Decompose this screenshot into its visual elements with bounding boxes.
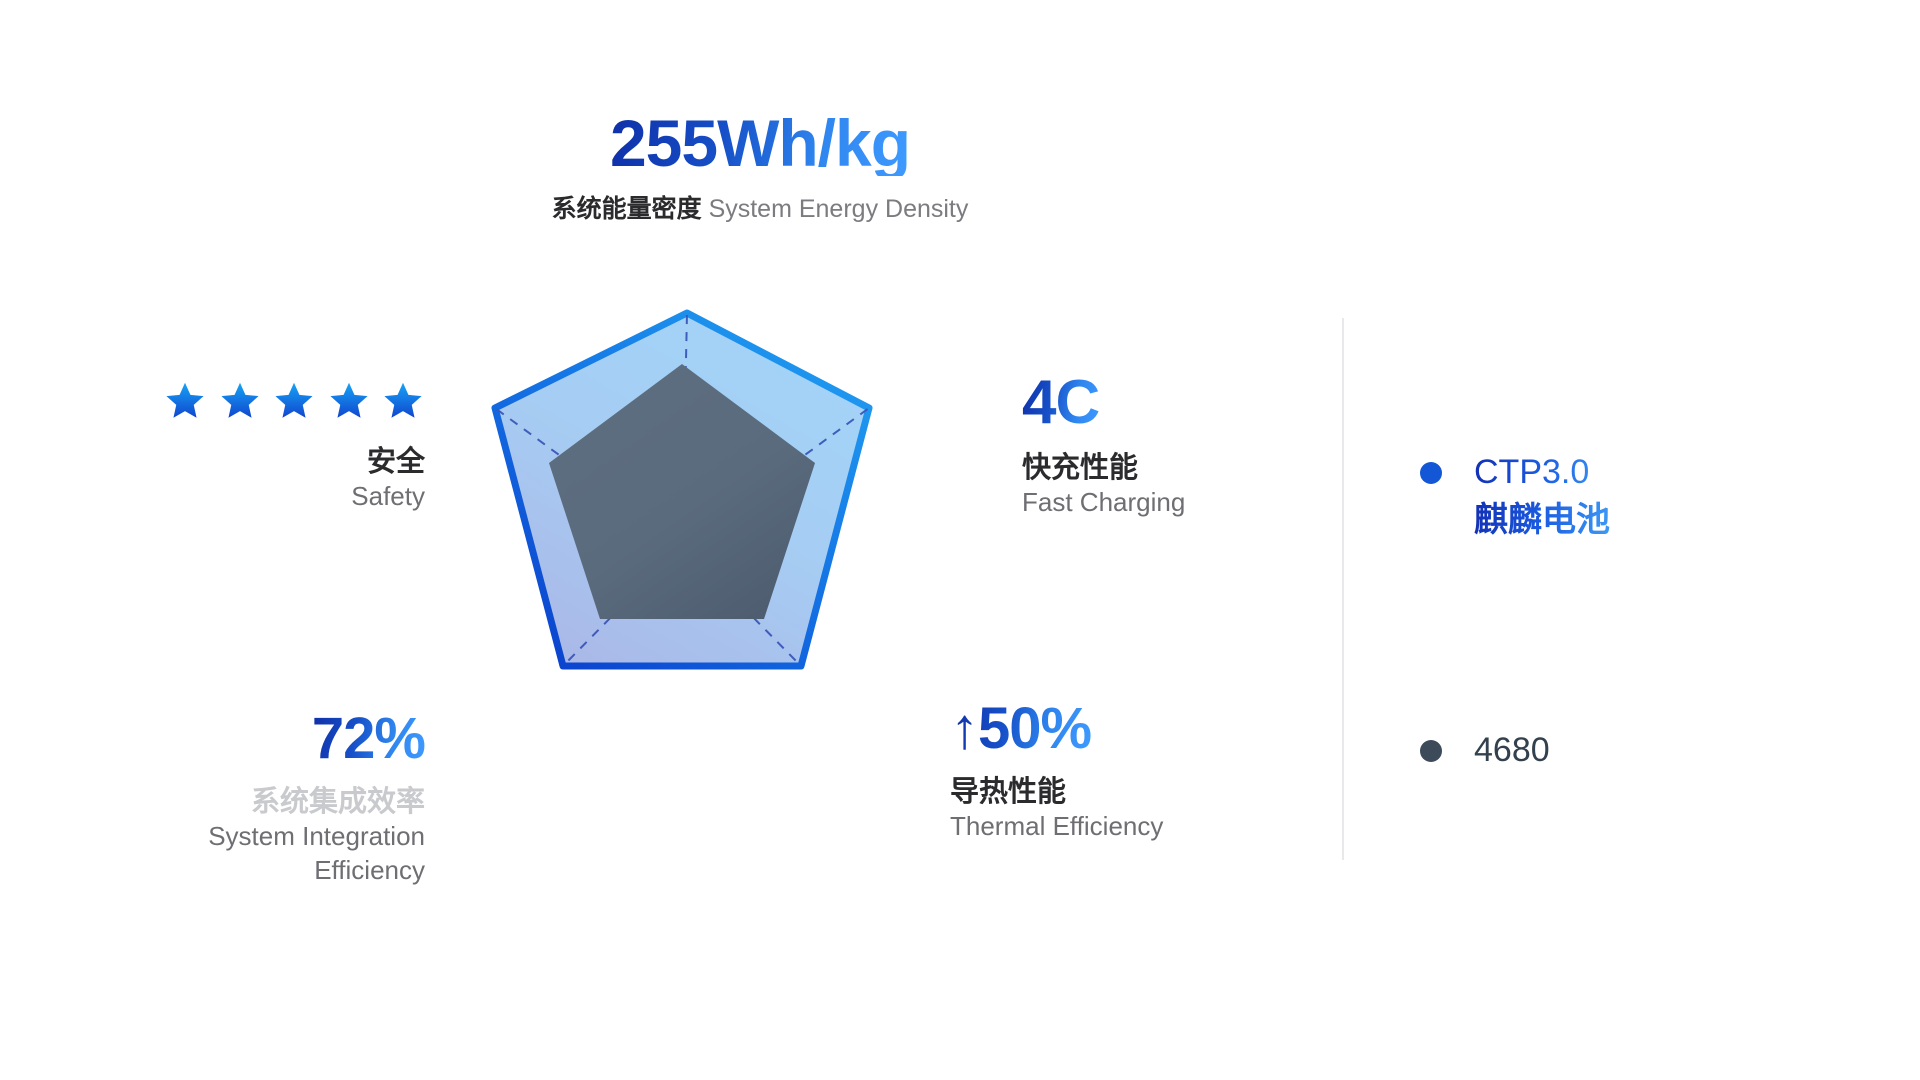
legend-dot-4680-icon [1420, 740, 1442, 762]
fast-charging-value: 4C [1022, 372, 1099, 434]
integration-value: 72% [312, 710, 425, 768]
thermal-label-cn: 导热性能 [950, 774, 1310, 810]
energy-density-value: 255Wh/kg [610, 110, 910, 176]
fast-charging-label-cn: 快充性能 [1022, 450, 1322, 486]
legend-label-4680: 4680 [1474, 728, 1550, 772]
thermal-value: ↑50% [950, 700, 1091, 758]
safety-label-en: Safety [60, 480, 425, 514]
safety-label-cn: 安全 [60, 444, 425, 480]
legend-label-ctp3: CTP3.0 麒麟电池 [1474, 450, 1610, 542]
metric-system-integration-efficiency: 72% 系统集成效率 System Integration Efficiency [40, 710, 425, 888]
star-icon [163, 380, 207, 422]
legend-ctp3-line1: CTP3.0 [1474, 450, 1610, 494]
thermal-label-en: Thermal Efficiency [950, 810, 1310, 844]
metric-fast-charging: 4C 快充性能 Fast Charging [1022, 372, 1322, 520]
legend-ctp3-line2: 麒麟电池 [1474, 498, 1610, 542]
energy-density-label: 系统能量密度 System Energy Density [400, 194, 1120, 224]
integration-label-en-line1: System Integration [40, 820, 425, 854]
chart-legend: CTP3.0 麒麟电池 4680 [1420, 450, 1610, 773]
star-icon [381, 380, 425, 422]
safety-star-rating [60, 380, 425, 422]
star-icon [272, 380, 316, 422]
fast-charging-label-en: Fast Charging [1022, 486, 1322, 520]
slide-canvas: 255Wh/kg 系统能量密度 System Energy Density [0, 0, 1920, 1080]
legend-dot-ctp3-icon [1420, 462, 1442, 484]
headline-energy-density: 255Wh/kg 系统能量密度 System Energy Density [400, 110, 1120, 224]
integration-label-cn: 系统集成效率 [40, 784, 425, 820]
star-icon [327, 380, 371, 422]
radar-chart [460, 280, 1020, 820]
legend-4680-line1: 4680 [1474, 728, 1550, 772]
energy-density-label-en: System Energy Density [709, 195, 969, 223]
legend-item-ctp3[interactable]: CTP3.0 麒麟电池 [1420, 450, 1610, 542]
integration-label-en-line2: Efficiency [40, 854, 425, 888]
radar-svg [460, 280, 1020, 820]
energy-density-label-cn: 系统能量密度 [552, 195, 702, 223]
radar-plot [495, 312, 869, 666]
metric-thermal-efficiency: ↑50% 导热性能 Thermal Efficiency [950, 700, 1310, 844]
star-icon [218, 380, 262, 422]
legend-item-4680[interactable]: 4680 [1420, 728, 1610, 772]
metric-safety: 安全 Safety [60, 380, 425, 514]
vertical-divider [1342, 318, 1344, 860]
